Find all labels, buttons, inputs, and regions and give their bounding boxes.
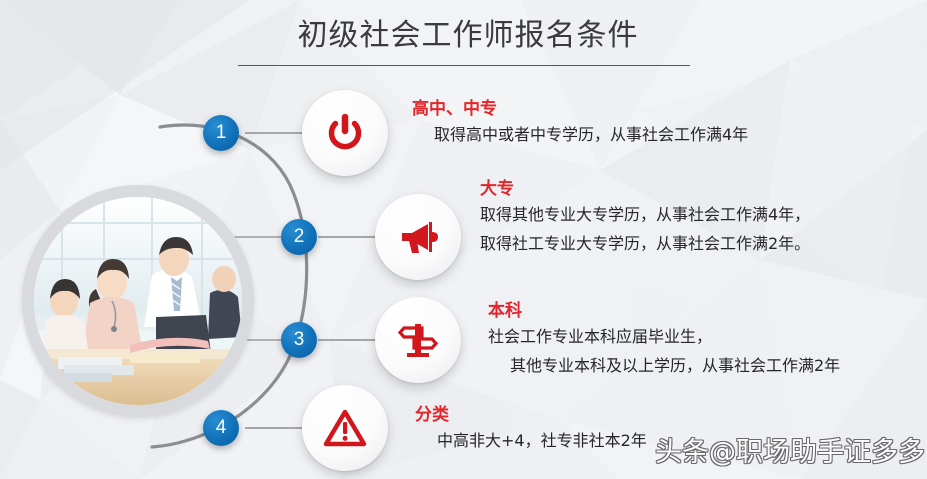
step-text-block-4: 分类 中高非大+4，社专非社本2年 bbox=[415, 404, 647, 455]
step-icon-disc-1[interactable] bbox=[302, 90, 388, 176]
step-text-block-3: 本科 社会工作专业本科应届毕业生， 其他专业本科及以上学历，从事社会工作满2年 bbox=[488, 300, 840, 380]
step-icon-disc-4[interactable] bbox=[302, 385, 388, 471]
step-number-2[interactable]: 2 bbox=[281, 219, 317, 255]
megaphone-icon bbox=[396, 215, 440, 259]
step-line-4-0: 中高非大+4，社专非社本2年 bbox=[415, 426, 647, 455]
step-number-3[interactable]: 3 bbox=[281, 322, 317, 358]
warning-triangle-icon bbox=[323, 406, 367, 450]
page-title: 初级社会工作师报名条件 bbox=[238, 14, 698, 58]
signpost-icon bbox=[396, 318, 440, 362]
step-number-4[interactable]: 4 bbox=[203, 410, 239, 446]
photo-circle-frame bbox=[22, 185, 254, 417]
step-icon-disc-2[interactable] bbox=[375, 194, 461, 280]
step-line-1-0: 取得高中或者中专学历，从事社会工作满4年 bbox=[412, 120, 748, 149]
step-line-2-1: 取得社工专业大专学历，从事社会工作满2年。 bbox=[480, 229, 810, 258]
step-text-block-1: 高中、中专 取得高中或者中专学历，从事社会工作满4年 bbox=[412, 98, 748, 149]
office-team-meeting-photo bbox=[34, 197, 242, 405]
step-line-3-1: 其他专业本科及以上学历，从事社会工作满2年 bbox=[488, 351, 840, 380]
step-text-block-2: 大专 取得其他专业大专学历，从事社会工作满4年， 取得社工专业大专学历，从事社会… bbox=[480, 178, 810, 258]
watermark: 头条@职场助手证多多 bbox=[655, 436, 925, 470]
photo-circle-image bbox=[34, 197, 242, 405]
step-line-3-0: 社会工作专业本科应届毕业生， bbox=[488, 322, 840, 351]
step-icon-disc-3[interactable] bbox=[375, 297, 461, 383]
slide-canvas: 初级社会工作师报名条件 bbox=[0, 0, 927, 479]
step-line-2-0: 取得其他专业大专学历，从事社会工作满4年， bbox=[480, 200, 810, 229]
step-heading-1: 高中、中专 bbox=[412, 98, 748, 120]
step-heading-3: 本科 bbox=[488, 300, 840, 322]
title-underline bbox=[238, 65, 690, 66]
power-icon bbox=[323, 111, 367, 155]
step-heading-2: 大专 bbox=[480, 178, 810, 200]
step-number-1[interactable]: 1 bbox=[203, 115, 239, 151]
step-heading-4: 分类 bbox=[415, 404, 647, 426]
